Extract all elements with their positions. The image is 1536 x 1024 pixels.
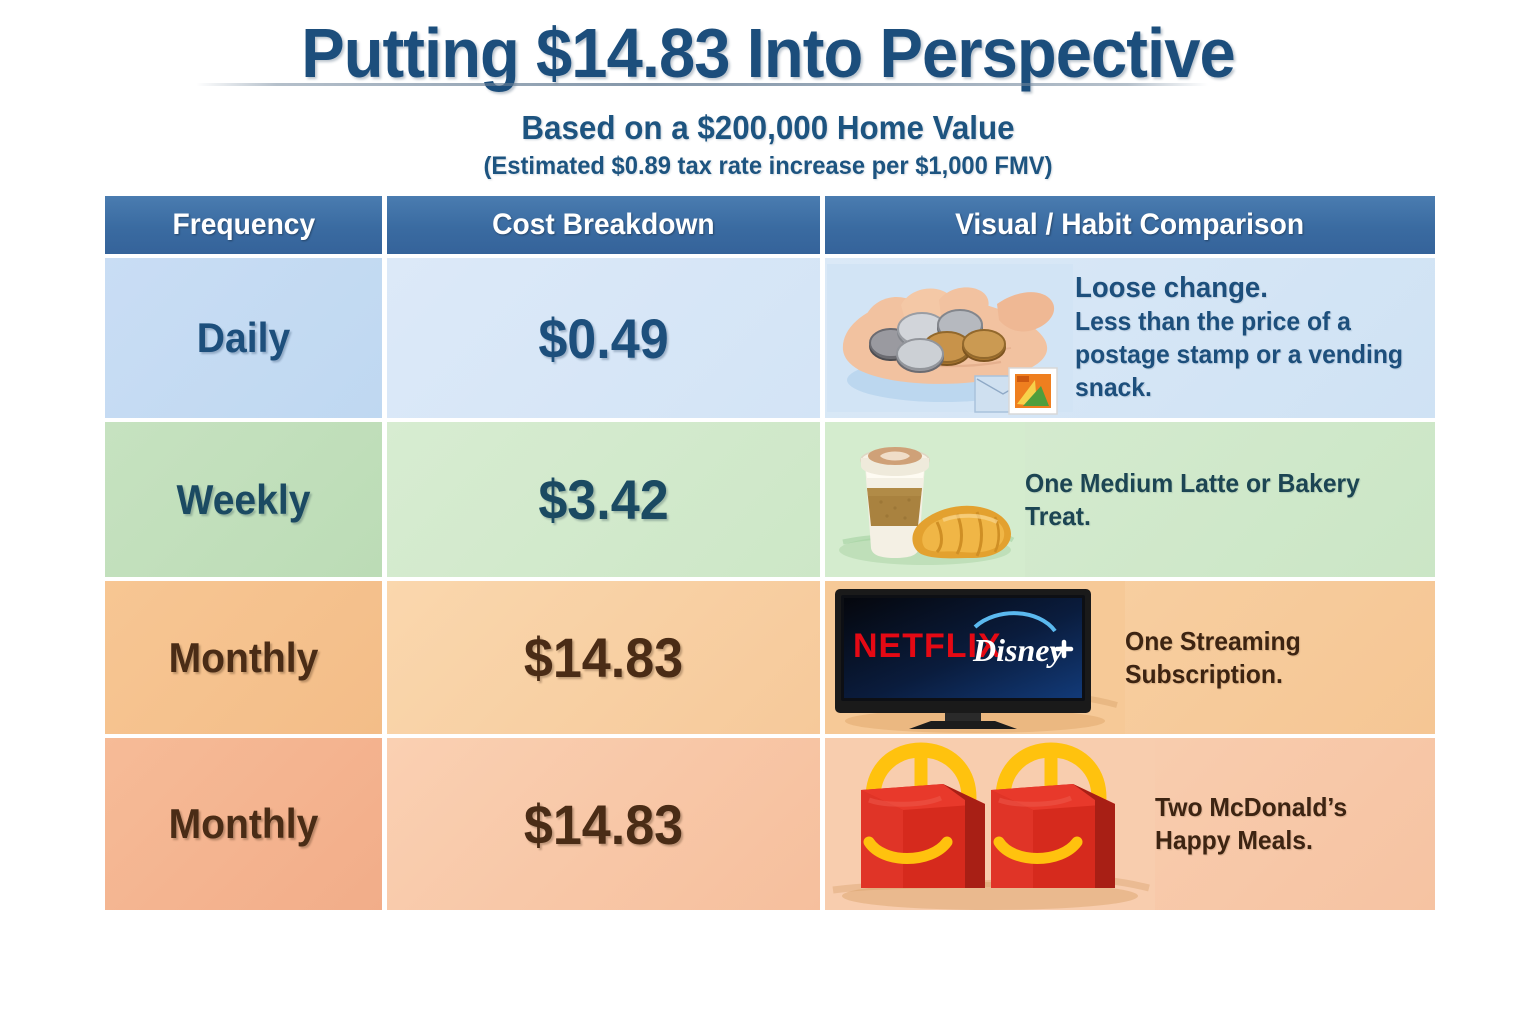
frequency-label: Monthly bbox=[115, 800, 373, 848]
cost-cell: $14.83 bbox=[387, 581, 820, 734]
cost-cell: $14.83 bbox=[387, 738, 820, 910]
comparison-detail: One Streaming Subscription. bbox=[1125, 626, 1301, 689]
table-row: Daily $0.49 bbox=[105, 258, 1435, 418]
comparison-text: One Streaming Subscription. bbox=[1125, 625, 1420, 691]
column-header-cost-breakdown: Cost Breakdown bbox=[387, 196, 820, 254]
comparison-cell: Loose change. Less than the price of a p… bbox=[825, 258, 1435, 418]
comparison-text: Loose change. Less than the price of a p… bbox=[1075, 272, 1417, 404]
frequency-label: Daily bbox=[115, 314, 373, 362]
frequency-label: Weekly bbox=[115, 476, 373, 524]
table-row: Weekly $3.42 bbox=[105, 422, 1435, 577]
frequency-cell: Monthly bbox=[105, 581, 382, 734]
frequency-cell: Monthly bbox=[105, 738, 382, 910]
comparison-lead: Loose change. bbox=[1075, 272, 1411, 305]
cost-amount: $14.83 bbox=[402, 792, 805, 857]
cost-cell: $3.42 bbox=[387, 422, 820, 577]
comparison-text: Two McDonald’s Happy Meals. bbox=[1155, 791, 1421, 857]
frequency-label: Monthly bbox=[115, 634, 373, 682]
table-row: Monthly $14.83 bbox=[105, 738, 1435, 910]
cost-amount: $3.42 bbox=[402, 467, 805, 532]
comparison-cell: NETFLIX Disney bbox=[825, 581, 1435, 734]
title-block: Putting $14.83 Into Perspective bbox=[0, 14, 1536, 92]
frequency-cell: Weekly bbox=[105, 422, 382, 577]
column-header-frequency: Frequency bbox=[105, 196, 382, 254]
page-title: Putting $14.83 Into Perspective bbox=[54, 14, 1482, 92]
television-icon: NETFLIX Disney bbox=[825, 581, 1125, 734]
comparison-detail: Less than the price of a postage stamp o… bbox=[1075, 306, 1403, 402]
comparison-text: One Medium Latte or Bakery Treat. bbox=[1025, 467, 1415, 533]
hand-with-coins-icon bbox=[825, 258, 1075, 418]
table-row: Monthly $14.83 bbox=[105, 581, 1435, 734]
table-header-row: Frequency Cost Breakdown Visual / Habit … bbox=[105, 196, 1435, 254]
comparison-detail: Two McDonald’s Happy Meals. bbox=[1155, 792, 1347, 855]
disney-plus-logo-text: Disney bbox=[972, 632, 1064, 668]
subtitle: Based on a $200,000 Home Value bbox=[38, 108, 1497, 148]
column-header-label: Visual / Habit Comparison bbox=[956, 208, 1305, 242]
column-header-label: Cost Breakdown bbox=[492, 208, 715, 242]
comparison-detail: One Medium Latte or Bakery Treat. bbox=[1025, 468, 1360, 531]
comparison-cell: One Medium Latte or Bakery Treat. bbox=[825, 422, 1435, 577]
comparison-cell: Two McDonald’s Happy Meals. bbox=[825, 738, 1435, 910]
title-divider bbox=[196, 83, 1208, 86]
frequency-cell: Daily bbox=[105, 258, 382, 418]
infographic-page: Putting $14.83 Into Perspective Based on… bbox=[0, 0, 1536, 1024]
cost-cell: $0.49 bbox=[387, 258, 820, 418]
coffee-and-croissant-icon bbox=[825, 422, 1025, 577]
column-header-label: Frequency bbox=[172, 208, 315, 242]
cost-amount: $14.83 bbox=[402, 625, 805, 690]
comparison-table: Frequency Cost Breakdown Visual / Habit … bbox=[105, 196, 1435, 914]
cost-amount: $0.49 bbox=[402, 306, 805, 371]
subtitle-note: (Estimated $0.89 tax rate increase per $… bbox=[38, 150, 1497, 182]
column-header-visual-habit-comparison: Visual / Habit Comparison bbox=[825, 196, 1435, 254]
happy-meal-boxes-icon bbox=[825, 738, 1155, 910]
